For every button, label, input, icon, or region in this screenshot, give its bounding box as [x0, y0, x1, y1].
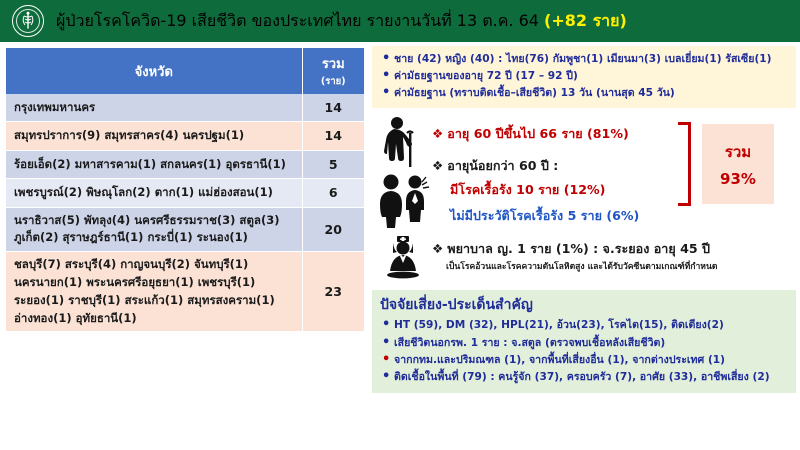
- cell-total: 14: [302, 94, 364, 122]
- province-deaths-table: จังหวัด รวม (ราย) กรุงเทพมหานคร14สมุทรปร…: [6, 48, 364, 332]
- ministry-of-public-health-seal-icon: [12, 5, 44, 37]
- risk-item: เสียชีวิตนอกรพ. 1 ราย : จ.สตูล (ตรวจพบเช…: [380, 335, 788, 352]
- table-header-row: จังหวัด รวม (ราย): [6, 48, 364, 94]
- column-header-total-sub: (ราย): [305, 74, 363, 89]
- summary-list: ชาย (42) หญิง (40) : ไทย(76) กัมพูชา(1) …: [380, 51, 788, 102]
- age-line-under60: ❖อายุน้อยกว่า 60 ปี :: [432, 156, 558, 176]
- province-line: สมุทรปราการ(9) สมุทรสาคร(4) นครปฐม(1): [14, 127, 294, 145]
- cell-total: 20: [302, 207, 364, 252]
- risk-factors-list: HT (59), DM (32), HPL(21), อ้วน(23), โรค…: [380, 317, 788, 386]
- cell-total: 23: [302, 252, 364, 332]
- age-line-nurse: ❖พยาบาล ญ. 1 ราย (1%) : จ.ระยอง อายุ 45 …: [432, 239, 710, 259]
- province-line: ร้อยเอ็ด(2) มหาสารคาม(1) สกลนคร(1) อุดรธ…: [14, 156, 294, 174]
- two-adults-icon: [378, 174, 430, 232]
- table-row: กรุงเทพมหานคร14: [6, 94, 364, 122]
- total-percentage-badge: รวม 93%: [702, 124, 774, 204]
- right-column: ชาย (42) หญิง (40) : ไทย(76) กัมพูชา(1) …: [372, 46, 796, 393]
- table-row: ชลบุรี(7) สระบุรี(4) กาญจนบุรี(2) จันทบุ…: [6, 252, 364, 332]
- page-title: ผู้ป่วยโรคโควิด-19 เสียชีวิต ของประเทศไท…: [56, 9, 627, 34]
- summary-item: ค่ามัธยฐานของอายุ 72 ปี (17 – 92 ปี): [380, 68, 788, 85]
- logo-container: [0, 0, 56, 42]
- total-badge-label: รวม: [725, 140, 751, 164]
- elderly-person-with-cane-icon: [378, 116, 420, 174]
- summary-item: ชาย (42) หญิง (40) : ไทย(76) กัมพูชา(1) …: [380, 51, 788, 68]
- cell-provinces: กรุงเทพมหานคร: [6, 94, 302, 122]
- age-line-chronic: มีโรคเรื้อรัง 10 ราย (12%): [450, 180, 605, 200]
- risk-item: HT (59), DM (32), HPL(21), อ้วน(23), โรค…: [380, 317, 788, 334]
- table-row: ร้อยเอ็ด(2) มหาสารคาม(1) สกลนคร(1) อุดรธ…: [6, 150, 364, 178]
- province-line: ภูเก็ต(2) สุราษฎร์ธานี(1) กระบี่(1) ระนอ…: [14, 229, 294, 247]
- nurse-note: เป็นโรคอ้วนและโรคความดันโลหิตสูง และได้ร…: [446, 259, 717, 273]
- total-badge-value: 93%: [720, 170, 756, 188]
- column-header-province-label: จังหวัด: [135, 65, 173, 80]
- column-header-total: รวม (ราย): [302, 48, 364, 94]
- province-line: กรุงเทพมหานคร: [14, 99, 294, 117]
- cell-provinces: เพชรบูรณ์(2) พิษณุโลก(2) ตาก(1) แม่ฮ่องส…: [6, 179, 302, 207]
- summary-item: ค่ามัธยฐาน (ทราบติดเชื้อ–เสียชีวิต) 13 ว…: [380, 85, 788, 102]
- risk-item: ติดเชื้อในพื้นที่ (79) : คนรู้จัก (37), …: [380, 369, 788, 386]
- province-line: ระยอง(1) ราชบุรี(1) สระแก้ว(1) สมุทรสงคร…: [14, 292, 294, 310]
- summary-panel: ชาย (42) หญิง (40) : ไทย(76) กัมพูชา(1) …: [372, 46, 796, 108]
- cell-total: 5: [302, 150, 364, 178]
- column-header-total-label: รวม: [322, 57, 345, 72]
- age-line-no-chronic-text: ไม่มีประวัติโรคเรื้อรัง 5 ราย (6%): [450, 208, 639, 223]
- cell-provinces: สมุทรปราการ(9) สมุทรสาคร(4) นครปฐม(1): [6, 122, 302, 150]
- age-line-elderly: ❖อายุ 60 ปีขึ้นไป 66 ราย (81%): [432, 124, 629, 144]
- diamond-marker-icon: ❖: [432, 158, 443, 173]
- age-line-nurse-text: พยาบาล ญ. 1 ราย (1%) : จ.ระยอง อายุ 45 ป…: [447, 241, 710, 256]
- age-line-chronic-text: มีโรคเรื้อรัง 10 ราย (12%): [450, 182, 605, 197]
- risk-factors-title: ปัจจัยเสี่ยง-ประเด็นสำคัญ: [380, 294, 788, 316]
- table-row: นราธิวาส(5) พัทลุง(4) นครศรีธรรมราช(3) ส…: [6, 207, 364, 252]
- risk-factors-panel: ปัจจัยเสี่ยง-ประเด็นสำคัญ HT (59), DM (3…: [372, 290, 796, 393]
- age-line-elderly-text: อายุ 60 ปีขึ้นไป 66 ราย (81%): [447, 126, 628, 141]
- province-line: เพชรบูรณ์(2) พิษณุโลก(2) ตาก(1) แม่ฮ่องส…: [14, 184, 294, 202]
- diamond-marker-icon: ❖: [432, 241, 443, 256]
- risk-item: จากกทม.และปริมณฑล (1), จากพื้นที่เสี่ยงอ…: [380, 352, 788, 369]
- table-body: กรุงเทพมหานคร14สมุทรปราการ(9) สมุทรสาคร(…: [6, 94, 364, 332]
- cell-provinces: ร้อยเอ็ด(2) มหาสารคาม(1) สกลนคร(1) อุดรธ…: [6, 150, 302, 178]
- age-line-under60-text: อายุน้อยกว่า 60 ปี :: [447, 158, 558, 173]
- cell-total: 6: [302, 179, 364, 207]
- age-breakdown-block: ❖อายุ 60 ปีขึ้นไป 66 ราย (81%) ❖อายุน้อย…: [372, 108, 796, 290]
- cell-provinces: นราธิวาส(5) พัทลุง(4) นครศรีธรรมราช(3) ส…: [6, 207, 302, 252]
- page-header: ผู้ป่วยโรคโควิด-19 เสียชีวิต ของประเทศไท…: [0, 0, 800, 42]
- column-header-province: จังหวัด: [6, 48, 302, 94]
- province-line: อ่างทอง(1) อุทัยธานี(1): [14, 310, 294, 328]
- table-row: สมุทรปราการ(9) สมุทรสาคร(4) นครปฐม(1)14: [6, 122, 364, 150]
- province-line: นครนายก(1) พระนครศรีอยุธยา(1) เพชรบุรี(1…: [14, 274, 294, 292]
- province-line: ชลบุรี(7) สระบุรี(4) กาญจนบุรี(2) จันทบุ…: [14, 256, 294, 274]
- cell-provinces: ชลบุรี(7) สระบุรี(4) กาญจนบุรี(2) จันทบุ…: [6, 252, 302, 332]
- page-title-delta: (+82 ราย): [544, 11, 627, 30]
- province-line: นราธิวาส(5) พัทลุง(4) นครศรีธรรมราช(3) ส…: [14, 212, 294, 230]
- page-title-text: ผู้ป่วยโรคโควิด-19 เสียชีวิต ของประเทศไท…: [56, 11, 544, 30]
- grouping-bracket-icon: [678, 122, 691, 206]
- nurse-icon: [384, 234, 422, 284]
- table-row: เพชรบูรณ์(2) พิษณุโลก(2) ตาก(1) แม่ฮ่องส…: [6, 179, 364, 207]
- cell-total: 14: [302, 122, 364, 150]
- age-line-no-chronic: ไม่มีประวัติโรคเรื้อรัง 5 ราย (6%): [450, 206, 639, 226]
- diamond-marker-icon: ❖: [432, 126, 443, 141]
